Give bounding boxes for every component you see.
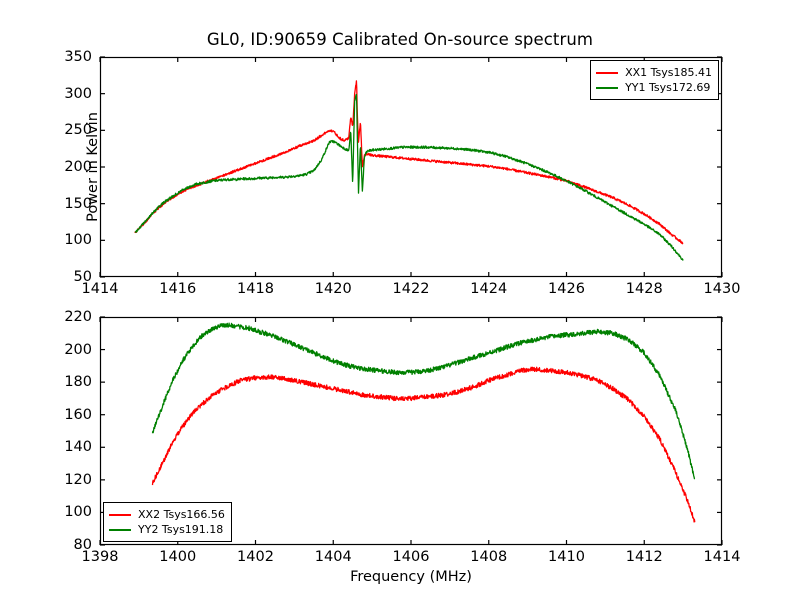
y-tick-label: 200: [44, 342, 92, 358]
x-tick-label: 1406: [393, 549, 430, 565]
legend-entry: YY2 Tsys191.18: [109, 522, 225, 537]
x-tick-label: 1420: [315, 281, 352, 297]
spectrum-trace: [135, 81, 683, 244]
page-title: GL0, ID:90659 Calibrated On-source spect…: [0, 30, 800, 49]
legend-label: YY1 Tsys172.69: [625, 80, 710, 95]
x-tick-label: 1430: [704, 281, 741, 297]
y-tick-label: 80: [44, 537, 92, 553]
legend-line-swatch: [109, 529, 131, 531]
legend-label: XX1 Tsys185.41: [625, 65, 712, 80]
x-tick-label: 1404: [315, 549, 352, 565]
y-tick-label: 300: [44, 86, 92, 102]
y-tick-label: 160: [44, 407, 92, 423]
figure-canvas: GL0, ID:90659 Calibrated On-source spect…: [0, 0, 800, 600]
bottom-x-axis-label: Frequency (MHz): [100, 569, 722, 585]
x-tick-label: 1418: [237, 281, 274, 297]
bottom-spectrum-axes: Frequency (MHz) XX2 Tsys166.56YY2 Tsys19…: [100, 317, 722, 545]
x-tick-label: 1428: [626, 281, 663, 297]
legend-line-swatch: [596, 72, 618, 74]
x-tick-label: 1402: [237, 549, 274, 565]
legend-entry: XX2 Tsys166.56: [109, 507, 225, 522]
y-tick-label: 120: [44, 472, 92, 488]
legend-line-swatch: [596, 87, 618, 89]
legend-line-swatch: [109, 514, 131, 516]
x-tick-label: 1426: [548, 281, 585, 297]
y-tick-label: 100: [44, 504, 92, 520]
top-legend: XX1 Tsys185.41YY1 Tsys172.69: [590, 60, 719, 100]
x-tick-label: 1400: [159, 549, 196, 565]
y-tick-label: 220: [44, 309, 92, 325]
x-tick-label: 1412: [626, 549, 663, 565]
spectrum-trace: [152, 367, 694, 522]
legend-label: YY2 Tsys191.18: [138, 522, 223, 537]
bottom-legend: XX2 Tsys166.56YY2 Tsys191.18: [103, 502, 232, 542]
x-tick-label: 1416: [159, 281, 196, 297]
legend-label: XX2 Tsys166.56: [138, 507, 225, 522]
spectrum-trace: [152, 323, 694, 479]
y-tick-label: 350: [44, 49, 92, 65]
x-tick-label: 1410: [548, 549, 585, 565]
x-tick-label: 1408: [470, 549, 507, 565]
y-tick-label: 180: [44, 374, 92, 390]
y-tick-label: 150: [44, 196, 92, 212]
legend-entry: XX1 Tsys185.41: [596, 65, 712, 80]
x-tick-label: 1414: [704, 549, 741, 565]
x-tick-label: 1422: [393, 281, 430, 297]
y-tick-label: 140: [44, 439, 92, 455]
top-spectrum-axes: Power in Kelvin XX1 Tsys185.41YY1 Tsys17…: [100, 57, 722, 277]
y-tick-label: 50: [44, 269, 92, 285]
y-tick-label: 250: [44, 122, 92, 138]
y-tick-label: 100: [44, 232, 92, 248]
legend-entry: YY1 Tsys172.69: [596, 80, 712, 95]
y-tick-label: 200: [44, 159, 92, 175]
x-tick-label: 1424: [470, 281, 507, 297]
